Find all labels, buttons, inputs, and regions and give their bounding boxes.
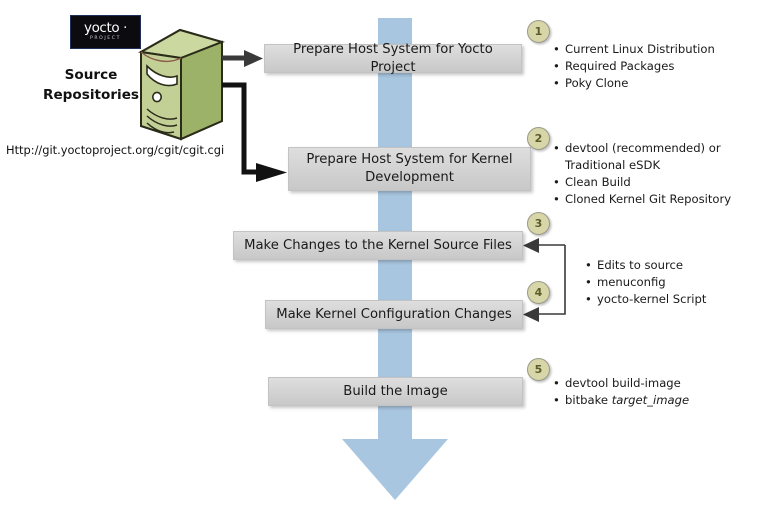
step-number-badge-3: 3 (527, 212, 550, 235)
server-tower-icon (133, 26, 225, 142)
step-number-badge-1: 1 (527, 20, 550, 43)
note-item: devtool build-image (553, 375, 765, 392)
step-number-badge-5: 5 (527, 358, 550, 381)
process-box-step-5[interactable]: Build the Image (268, 377, 523, 406)
notes-list-3-4: Edits to sourcemenuconfigyocto-kernel Sc… (585, 257, 765, 308)
yocto-project-logo: yocto · PROJECT (70, 15, 141, 49)
notes-list-1: Current Linux DistributionRequired Packa… (553, 41, 765, 92)
note-item: Current Linux Distribution (553, 41, 765, 58)
process-box-step-3[interactable]: Make Changes to the Kernel Source Files (233, 231, 523, 260)
note-item: Edits to source (585, 257, 765, 274)
note-item: devtool (recommended) or Traditional eSD… (553, 140, 768, 174)
notes-step-5: devtool build-imagebitbake target_image (553, 375, 765, 409)
note-item: Required Packages (553, 58, 765, 75)
main-flow-arrow-head (342, 439, 448, 500)
step-number-badge-2: 2 (527, 127, 550, 150)
notes-step-1: Current Linux DistributionRequired Packa… (553, 41, 765, 92)
process-box-step-1[interactable]: Prepare Host System for Yocto Project (264, 44, 522, 73)
logo-wordmark: yocto · (84, 22, 127, 36)
source-repositories-label: Source Repositories (36, 66, 146, 105)
process-box-step-4[interactable]: Make Kernel Configuration Changes (265, 300, 523, 329)
note-item: Clean Build (553, 174, 768, 191)
note-item: menuconfig (585, 274, 765, 291)
source-repository-url: Http://git.yoctoproject.org/cgit/cgit.cg… (6, 143, 224, 157)
notes-steps-3-and-4: Edits to sourcemenuconfigyocto-kernel Sc… (585, 257, 765, 308)
note-item: yocto-kernel Script (585, 291, 765, 308)
notes-list-5: devtool build-imagebitbake target_image (553, 375, 765, 409)
process-box-step-2[interactable]: Prepare Host System for Kernel Developme… (288, 147, 531, 191)
note-item: bitbake target_image (553, 392, 765, 409)
step-number-badge-4: 4 (527, 281, 550, 304)
note-item: Poky Clone (553, 75, 765, 92)
notes-list-2: devtool (recommended) or Traditional eSD… (553, 140, 768, 208)
logo-subtext: PROJECT (90, 37, 121, 42)
workflow-diagram: yocto · PROJECT Source Repositories Http… (0, 0, 769, 517)
notes-step-2: devtool (recommended) or Traditional eSD… (553, 140, 768, 208)
note-item: Cloned Kernel Git Repository (553, 191, 768, 208)
